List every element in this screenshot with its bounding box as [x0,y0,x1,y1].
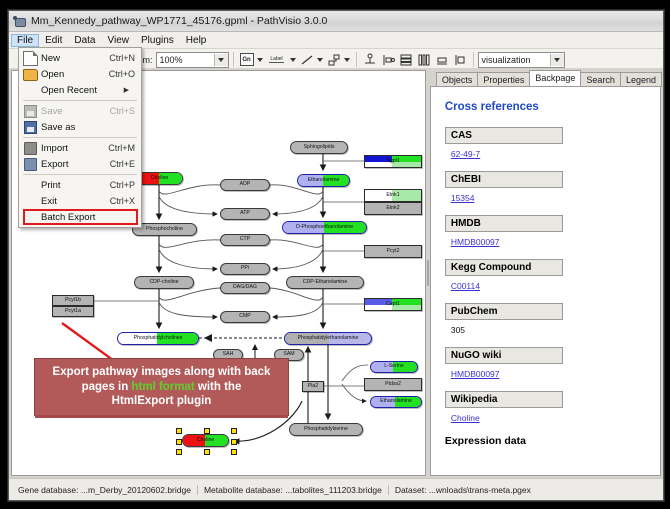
pathway-node-ptdethanol[interactable]: Phosphatidylethanolamine [284,332,372,345]
callout-underline [35,415,288,418]
line-dropdown-icon[interactable] [316,53,325,67]
status-gene-database: Gene database: ...m_Derby_20120602.bridg… [12,485,197,495]
pathway-node-choline[interactable]: Choline [136,172,183,185]
status-bar: Gene database: ...m_Derby_20120602.bridg… [9,478,663,500]
file-menu-item-label: Open Recent [41,85,124,96]
file-menu-item-open-recent[interactable]: Open Recent▶ [19,82,141,98]
menu-separator [23,137,137,138]
open-folder-icon [19,67,41,81]
cross-references-list: CAS62-49-7ChEBI15354HMDBHMDB00097Kegg Co… [445,127,646,423]
file-menu-item-exit[interactable]: ExitCtrl+X [19,193,141,209]
save-disk-icon [19,105,41,118]
node-label: SAH [223,352,234,357]
interaction-icon[interactable] [326,52,342,68]
xref-value-nugo-wiki[interactable]: HMDB00097 [451,369,646,379]
file-menu-item-import[interactable]: ImportCtrl+M [19,140,141,156]
tab-properties[interactable]: Properties [477,72,530,87]
node-label: Sphingolipids [304,145,335,150]
file-menu-item-label: Open [41,69,109,80]
file-menu-item-shortcut: Ctrl+X [110,196,141,206]
import-icon [19,142,41,155]
file-menu-item-label: Import [41,143,108,154]
gene-product-dropdown-icon[interactable] [256,53,265,67]
file-menu-item-label: New [41,53,109,64]
menu-plugins[interactable]: Plugins [135,34,180,47]
menu-help[interactable]: Help [180,34,213,47]
pathway-gene-etnk1[interactable]: Etnk1 [364,189,422,202]
cross-references-heading: Cross references [445,101,646,113]
node-label: CMP [239,314,251,319]
export-icon [19,158,41,171]
resize-handle[interactable] [204,449,210,455]
annotation-callout-text: Export pathway images along with back pa… [47,365,277,409]
xref-value-hmdb[interactable]: HMDB00097 [451,237,646,247]
xref-source-pubchem: PubChem [445,303,563,320]
file-menu-item-print[interactable]: PrintCtrl+P [19,177,141,193]
xref-source-chebi: ChEBI [445,171,563,188]
file-menu-item-shortcut: Ctrl+O [109,69,141,79]
xref-value-wikipedia[interactable]: Choline [451,413,646,423]
resize-handle[interactable] [176,428,182,434]
backpage-pane: Cross references CAS62-49-7ChEBI15354HMD… [430,86,661,476]
visualization-value: visualization [482,55,550,65]
pathway-node-sphingolipids[interactable]: Sphingolipids [290,141,348,154]
xref-source-nugo-wiki: NuGO wiki [445,347,563,364]
line-icon[interactable] [299,52,315,68]
batch-export-highlight [23,209,138,225]
callout-line-2-post: with the [195,381,242,393]
pathway-node-dagdag[interactable]: DAG/DAG [220,282,270,294]
node-label: Phosphatidylethanolamine [298,336,359,341]
new-document-icon [19,51,41,66]
status-metabolite-database: Metabolite database: ...tabolites_111203… [197,485,388,495]
pathway-node-ctp[interactable]: CTP [220,234,270,246]
tab-backpage[interactable]: Backpage [529,70,581,86]
node-label: Ethanolamine [380,399,412,404]
status-dataset: Dataset: ...wnloads\trans-meta.pgex [388,485,537,495]
pathway-node-cdpethanol[interactable]: CDP-Ethanolamine [286,276,364,289]
distribute-icon[interactable] [416,52,432,68]
resize-handle[interactable] [204,428,210,434]
resize-handle[interactable] [176,449,182,455]
xref-link[interactable]: 62-49-7 [451,149,480,159]
submenu-arrow-icon: ▶ [124,86,135,94]
pathway-gene-pcyt1b[interactable]: Pcyt1b [52,295,94,306]
chevron-down-icon[interactable] [550,54,564,66]
file-menu-item-shortcut: Ctrl+N [109,53,141,63]
pathvisio-icon [13,15,26,28]
xref-value-pubchem: 305 [451,325,646,335]
pathway-gene-pcyt1a[interactable]: Pcyt1a [52,306,94,317]
pathway-node-atp[interactable]: ATP [220,208,270,220]
node-label: Choline [151,176,169,181]
file-menu-item-batch-export[interactable]: Batch Export [19,209,141,225]
xref-link[interactable]: Choline [451,413,480,423]
pathway-node-cmp[interactable]: CMP [220,311,270,323]
annotation-callout: Export pathway images along with back pa… [34,358,289,416]
interaction-dropdown-icon[interactable] [343,53,352,67]
zoom-value: 100% [160,55,214,65]
label-dropdown-icon[interactable] [289,53,298,67]
gene-label: Pcyt1b [65,298,81,303]
gene-label: Etnk2 [386,206,399,211]
gene-label: Ptdss2 [385,382,401,387]
xref-value-chebi[interactable]: 15354 [451,193,646,203]
node-label: CTP [240,237,250,242]
pathway-node-ophosphoetha[interactable]: O-Phosphoethanolamine [282,221,367,234]
gene-label: Pla2 [308,384,318,389]
file-menu-item-shortcut: Ctrl+E [110,159,141,169]
menu-data[interactable]: Data [68,34,101,47]
callout-line-3: HtmlExport plugin [112,395,212,407]
title-bar: Mm_Kennedy_pathway_WP1771_45176.gpml - P… [9,11,663,32]
node-label: CDP-Ethanolamine [303,280,347,285]
gene-label: Pcyt2 [387,249,400,254]
visualization-combo[interactable]: visualization [478,52,565,68]
window-title: Mm_Kennedy_pathway_WP1771_45176.gpml - P… [31,15,327,27]
pathway-gene-pcyt2[interactable]: Pcyt2 [364,245,422,258]
file-menu-item-label: Print [41,180,110,191]
menu-separator [23,174,137,175]
file-menu-item-shortcut: Ctrl+S [110,106,141,116]
pathway-node-ptdcholines[interactable]: Phosphatidylcholines [117,332,199,345]
gene-label: Pcyt1a [65,309,81,314]
node-label: Ethanolamine [308,178,340,183]
node-label: ATP [240,211,250,216]
xref-source-wikipedia: Wikipedia [445,391,563,408]
resize-handle[interactable] [231,439,237,445]
node-label: CDP-choline [149,280,178,285]
pathway-node-ppi[interactable]: PPi [220,263,270,275]
xref-source-kegg-compound: Kegg Compound [445,259,563,276]
resize-handle[interactable] [176,439,182,445]
tab-objects[interactable]: Objects [436,72,479,87]
xref-link[interactable]: HMDB00097 [451,237,500,247]
file-menu-item-export[interactable]: ExportCtrl+E [19,156,141,172]
tab-search[interactable]: Search [580,72,621,87]
gene-label: Cept1 [386,302,400,307]
node-label: PPi [241,266,249,271]
side-panel-tabs: Objects Properties Backpage Search Legen… [430,70,661,86]
chevron-down-icon[interactable] [214,54,228,66]
gene-label: Sgpl1 [386,159,399,164]
side-panel: Objects Properties Backpage Search Legen… [430,70,661,476]
file-menu-item-new[interactable]: NewCtrl+N [19,50,141,66]
application-window: Mm_Kennedy_pathway_WP1771_45176.gpml - P… [8,10,664,501]
gene-label: Etnk1 [386,193,399,198]
node-label: SAM [283,352,294,357]
file-menu-item-label: Export [41,159,110,170]
node-label: O-Phosphoethanolamine [296,225,353,230]
align-center-icon[interactable] [362,52,378,68]
node-label: DAG/DAG [233,285,257,290]
tab-legend[interactable]: Legend [620,72,662,87]
node-label: Phosphocholine [146,227,183,232]
pathway-node-ptdserine[interactable]: Phosphatidylserine [289,423,363,436]
pathway-node-cdpcholine[interactable]: CDP-choline [134,276,194,289]
file-menu-item-shortcut: Ctrl+P [110,180,141,190]
menu-file[interactable]: File [11,34,39,47]
pathway-node-ethanolamine1[interactable]: Ethanolamine [297,174,350,187]
node-label: ADP [240,182,251,187]
xref-value-cas[interactable]: 62-49-7 [451,149,646,159]
xref-link[interactable]: 15354 [451,193,475,203]
pathway-gene-sgpl1[interactable]: Sgpl1 [364,155,422,168]
xref-value-kegg-compound[interactable]: C00114 [451,281,646,291]
menu-separator [23,100,137,101]
pathway-gene-cept1[interactable]: Cept1 [364,298,422,311]
callout-line-2-pre: pages in [82,381,132,393]
menu-edit[interactable]: Edit [39,34,68,47]
callout-line-1: Export pathway images along with back [53,366,271,378]
pathway-gene-etnk2[interactable]: Etnk2 [364,202,422,215]
xref-link[interactable]: HMDB00097 [451,369,500,379]
save-as-disk-icon [19,121,41,134]
file-menu-item-label: Save as [41,122,135,133]
resize-handle[interactable] [231,428,237,434]
file-menu-popup[interactable]: NewCtrl+NOpenCtrl+OOpen Recent▶SaveCtrl+… [18,47,142,228]
align-left-icon[interactable] [380,52,396,68]
common-height-icon[interactable] [452,52,468,68]
common-width-icon[interactable] [434,52,450,68]
node-label: Choline [197,438,215,443]
pathway-gene-ptdss2[interactable]: Ptdss2 [364,378,422,391]
xref-source-hmdb: HMDB [445,215,563,232]
stack-vertical-icon[interactable] [398,52,414,68]
node-label: L-Serine [384,364,404,369]
pathway-gene-pla2[interactable]: Pla2 [302,381,324,392]
pathway-node-adp[interactable]: ADP [220,179,270,191]
node-label: Phosphatidylserine [304,427,348,432]
pathway-node-lserine[interactable]: L-Serine [370,361,418,373]
file-menu-item-label: Save [41,106,110,117]
file-menu-item-save: SaveCtrl+S [19,103,141,119]
callout-line-2-highlight: html format [131,381,194,393]
xref-source-cas: CAS [445,127,563,144]
xref-link[interactable]: C00114 [451,281,480,291]
file-menu-item-shortcut: Ctrl+M [108,143,141,153]
file-menu-item-open[interactable]: OpenCtrl+O [19,66,141,82]
label-icon[interactable]: Label [266,52,288,68]
zoom-combo[interactable]: 100% [156,52,229,68]
file-menu-item-label: Exit [41,196,110,207]
file-menu-item-save-as[interactable]: Save as [19,119,141,135]
pathway-node-ethanolamine2[interactable]: Ethanolamine [370,396,422,408]
menu-view[interactable]: View [101,34,135,47]
resize-handle[interactable] [231,449,237,455]
node-label: Phosphatidylcholines [134,336,183,341]
gene-product-icon[interactable]: Gn [239,52,255,68]
expression-data-heading: Expression data [445,435,646,447]
